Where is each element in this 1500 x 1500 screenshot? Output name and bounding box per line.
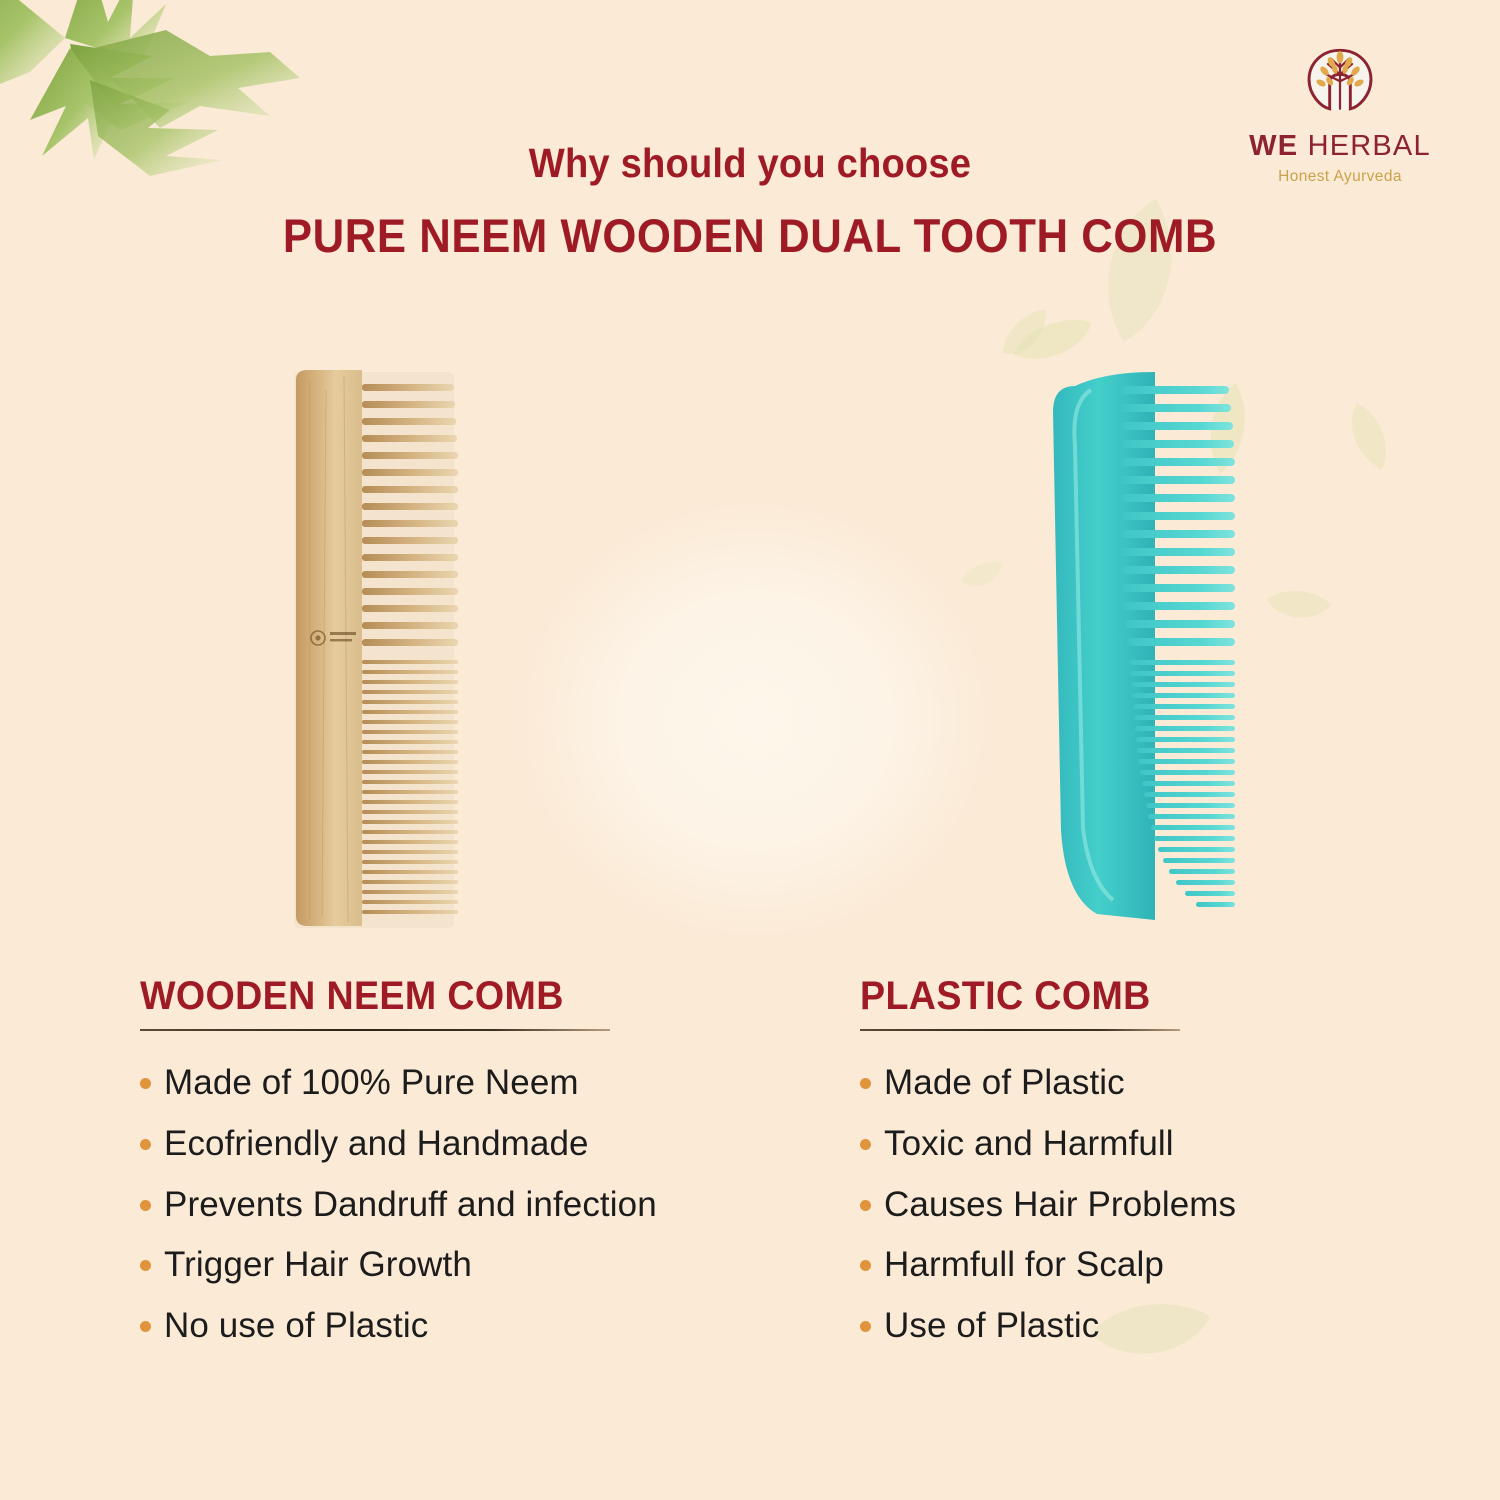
bullet-icon <box>860 1139 871 1150</box>
feature-text: Made of 100% Pure Neem <box>164 1061 579 1105</box>
feature-text: Prevents Dandruff and infection <box>164 1183 657 1227</box>
heading-underline <box>860 1029 1180 1031</box>
bullet-icon <box>860 1078 871 1089</box>
feature-text: Harmfull for Scalp <box>884 1243 1164 1287</box>
comparison-columns: WOODEN NEEM COMB Made of 100% Pure Neem … <box>0 975 1500 1365</box>
feature-text: Trigger Hair Growth <box>164 1243 472 1287</box>
column-wooden-neem-comb: WOODEN NEEM COMB Made of 100% Pure Neem … <box>0 975 830 1365</box>
background-glow <box>520 500 990 940</box>
list-item: Ecofriendly and Handmade <box>140 1122 830 1166</box>
list-item: Toxic and Harmfull <box>860 1122 1500 1166</box>
list-item: Made of 100% Pure Neem <box>140 1061 830 1105</box>
feature-text: No use of Plastic <box>164 1304 428 1348</box>
heading-underline <box>140 1029 610 1031</box>
feature-list-wooden: Made of 100% Pure Neem Ecofriendly and H… <box>140 1061 830 1348</box>
page-title: PURE NEEM WOODEN DUAL TOOTH COMB <box>53 209 1448 263</box>
list-item: Harmfull for Scalp <box>860 1243 1500 1287</box>
list-item: Made of Plastic <box>860 1061 1500 1105</box>
list-item: Causes Hair Problems <box>860 1183 1500 1227</box>
bullet-icon <box>860 1260 871 1271</box>
feature-text: Causes Hair Problems <box>884 1183 1236 1227</box>
feature-text: Use of Plastic <box>884 1304 1099 1348</box>
feature-text: Toxic and Harmfull <box>884 1122 1174 1166</box>
feature-text: Ecofriendly and Handmade <box>164 1122 589 1166</box>
bullet-icon <box>860 1200 871 1211</box>
page-eyebrow: Why should you choose <box>53 140 1448 187</box>
tree-in-circle-icon <box>1297 40 1383 126</box>
infographic-page: WE HERBAL Honest Ayurveda Why should you… <box>0 0 1500 1500</box>
floating-leaf-decoration <box>990 302 1063 366</box>
bullet-icon <box>140 1260 151 1271</box>
feature-text: Made of Plastic <box>884 1061 1125 1105</box>
feature-list-plastic: Made of Plastic Toxic and Harmfull Cause… <box>860 1061 1500 1348</box>
bullet-icon <box>140 1321 151 1332</box>
column-plastic-comb: PLASTIC COMB Made of Plastic Toxic and H… <box>830 975 1500 1365</box>
list-item: Prevents Dandruff and infection <box>140 1183 830 1227</box>
floating-leaf-decoration <box>959 558 1005 592</box>
column-heading: PLASTIC COMB <box>860 975 1462 1017</box>
bullet-icon <box>140 1200 151 1211</box>
list-item: Use of Plastic <box>860 1304 1500 1348</box>
floating-leaf-decoration <box>1335 395 1402 480</box>
plastic-comb-photo <box>1035 360 1270 940</box>
list-item: No use of Plastic <box>140 1304 830 1348</box>
bullet-icon <box>140 1139 151 1150</box>
page-title-block: Why should you choose PURE NEEM WOODEN D… <box>0 140 1500 263</box>
wooden-neem-comb-photo <box>270 360 480 940</box>
bullet-icon <box>140 1078 151 1089</box>
list-item: Trigger Hair Growth <box>140 1243 830 1287</box>
column-heading: WOODEN NEEM COMB <box>140 975 789 1017</box>
bullet-icon <box>860 1321 871 1332</box>
floating-leaf-decoration <box>1260 574 1336 636</box>
